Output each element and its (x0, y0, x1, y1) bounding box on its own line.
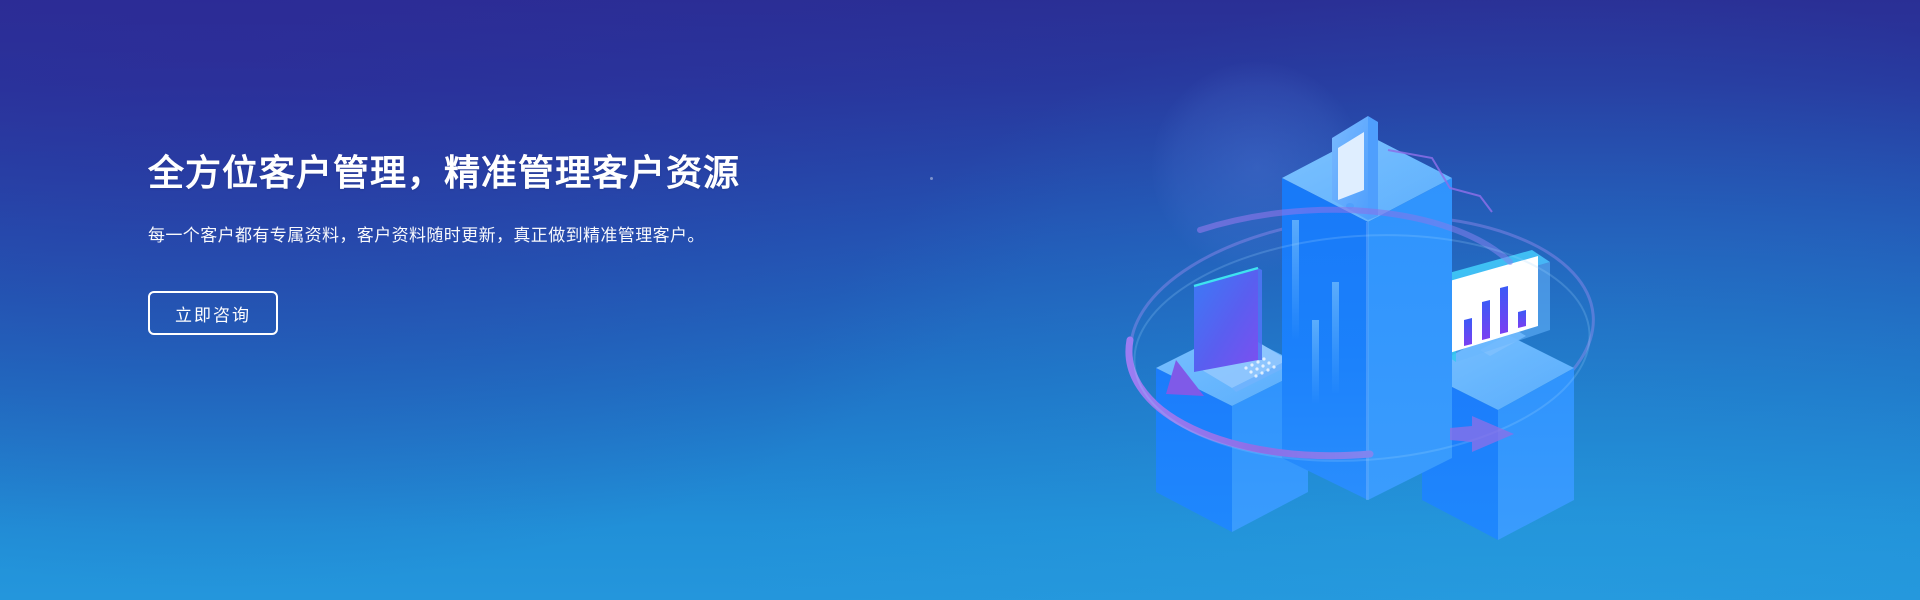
hero-banner: 全方位客户管理，精准管理客户资源 每一个客户都有专属资料，客户资料随时更新，真正… (0, 0, 1920, 600)
monitor-chart-icon (1438, 250, 1550, 362)
decorative-speck (930, 177, 933, 180)
hero-subtitle: 每一个客户都有专属资料，客户资料随时更新，真正做到精准管理客户。 (148, 222, 733, 249)
hero-illustration (1080, 30, 1640, 590)
hero-copy-block: 全方位客户管理，精准管理客户资源 每一个客户都有专属资料，客户资料随时更新，真正… (148, 150, 788, 335)
page-title: 全方位客户管理，精准管理客户资源 (148, 150, 788, 196)
consult-now-button[interactable]: 立即咨询 (148, 291, 278, 335)
